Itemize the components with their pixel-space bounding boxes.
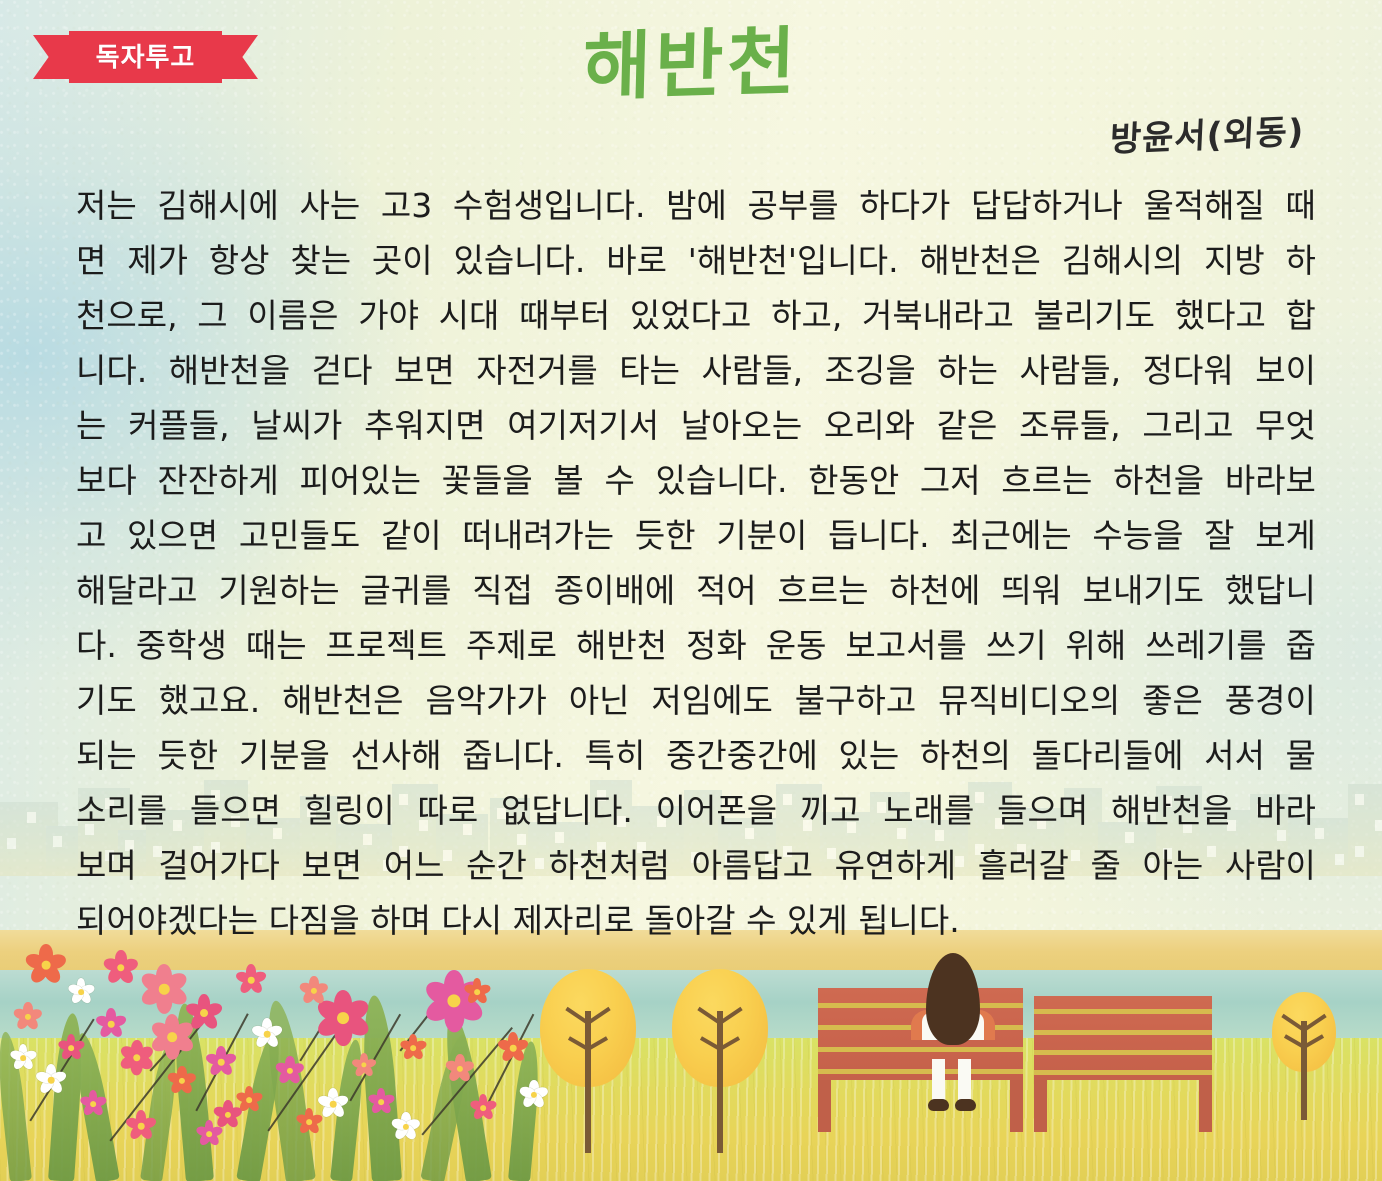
author-byline: 방윤서(외동) xyxy=(1108,104,1305,161)
bench-leg xyxy=(1199,1080,1212,1132)
flower-center xyxy=(78,989,84,995)
flower xyxy=(140,965,188,1013)
article-line: 소리를들으면힐링이따로없답니다.이어폰을끼고노래를들으며해반천을바라 xyxy=(76,783,1316,838)
flower xyxy=(368,1089,394,1115)
flower-center xyxy=(159,984,170,995)
bench-leg xyxy=(1034,1080,1047,1132)
flower xyxy=(126,1111,156,1141)
flower-center xyxy=(246,1097,252,1103)
flower-center xyxy=(206,1131,212,1137)
tree-right xyxy=(1272,992,1336,1120)
flower-center xyxy=(108,1021,115,1028)
flower xyxy=(392,1113,420,1141)
flower-center xyxy=(248,977,255,984)
flower xyxy=(446,1055,474,1083)
flower xyxy=(400,1035,426,1061)
bench-slat xyxy=(1034,1009,1212,1014)
bench-slat xyxy=(1034,1050,1212,1055)
flower xyxy=(68,979,94,1005)
flower-center xyxy=(330,1101,337,1108)
flower xyxy=(498,1033,528,1063)
flower-center xyxy=(474,989,480,995)
flower-center xyxy=(337,1012,349,1024)
flower xyxy=(168,1067,196,1095)
building-window xyxy=(1355,846,1364,857)
article-line: 천으로,그이름은가야시대때부터있었다고하고,거북내라고불리기도했다고합 xyxy=(76,288,1316,343)
flower-center xyxy=(48,1077,55,1084)
flower xyxy=(14,1003,42,1031)
flower xyxy=(80,1091,106,1117)
bench-slat xyxy=(1034,1070,1212,1075)
person-shoe-left xyxy=(928,1099,949,1111)
flower xyxy=(58,1035,84,1061)
tree-trunk xyxy=(717,1011,723,1153)
flower xyxy=(236,1087,262,1113)
building-window xyxy=(1355,794,1364,805)
flower xyxy=(470,1095,496,1121)
building-window xyxy=(53,836,62,847)
flower xyxy=(236,965,266,995)
magazine-page: 독자투고 해반천 방윤서(외동) 저는김해시에사는고3수험생입니다.밤에공부를하… xyxy=(0,0,1382,1181)
bench-slat xyxy=(1034,1030,1212,1035)
flower xyxy=(352,1053,376,1077)
article-line: 고있으면고민들도같이떠내려가는듯한기분이듭니다.최근에는수능을잘보게 xyxy=(76,508,1316,563)
flower xyxy=(36,1065,66,1095)
tree-trunk xyxy=(585,1011,591,1153)
article-line: 다.중학생때는프로젝트주제로해반천정화운동보고서를쓰기위해쓰레기를줍 xyxy=(76,618,1316,673)
section-ribbon-banner: 독자투고 xyxy=(33,31,258,83)
flower xyxy=(206,1047,236,1077)
person-shoe-right xyxy=(955,1099,976,1111)
flower-center xyxy=(264,1031,271,1038)
seated-person xyxy=(908,948,998,1113)
building-silhouette xyxy=(1348,784,1382,876)
person-leg-left xyxy=(932,1059,945,1101)
flower-center xyxy=(138,1123,145,1130)
article-line: 보다잔잔하게피어있는꽃들을볼수있습니다.한동안그저흐르는하천을바라보 xyxy=(76,453,1316,508)
person-hair xyxy=(926,953,980,1045)
flower-center xyxy=(218,1059,225,1066)
flower xyxy=(186,995,222,1031)
article-line: 는커플들,날씨가추워지면여기저기서날아오는오리와같은조류들,그리고무엇 xyxy=(76,398,1316,453)
article-line: 면제가항상찾는곳이있습니다.바로'해반천'입니다.해반천은김해시의지방하 xyxy=(76,233,1316,288)
building-window xyxy=(7,838,16,849)
flower xyxy=(252,1019,282,1049)
flower xyxy=(318,1089,348,1119)
person-leg-right xyxy=(958,1059,971,1101)
flower xyxy=(96,1009,126,1039)
bench-right xyxy=(1034,996,1212,1132)
bottom-illustration xyxy=(0,930,1382,1181)
page-title: 해반천 xyxy=(582,25,800,105)
flower-center xyxy=(480,1105,486,1111)
flower-center xyxy=(378,1099,384,1105)
flower-center xyxy=(42,961,51,970)
article-line: 기도했고요.해반천은음악가가아닌저임에도불구하고뮤직비디오의좋은풍경이 xyxy=(76,673,1316,728)
flower-center xyxy=(200,1009,208,1017)
flower-center xyxy=(90,1101,96,1107)
article-line: 보며걸어가다보면어느순간하천처럼아름답고유연하게흘러갈줄아는사람이 xyxy=(76,838,1316,893)
building-window xyxy=(1335,854,1344,865)
tree-trunk xyxy=(1301,1021,1307,1120)
flower xyxy=(276,1057,304,1085)
flower xyxy=(464,979,490,1005)
flower-center xyxy=(306,1119,312,1125)
flower xyxy=(300,977,328,1005)
flower xyxy=(120,1041,154,1075)
building-window xyxy=(27,812,36,823)
flower-center xyxy=(167,1032,177,1042)
flower xyxy=(26,945,66,985)
bench-backrest xyxy=(1034,996,1212,1080)
building-window xyxy=(1375,820,1382,831)
flower xyxy=(196,1121,222,1147)
flower-meadow xyxy=(0,931,560,1181)
article-line: 해달라고기원하는글귀를직접종이배에적어흐르는하천에띄워보내기도했답니 xyxy=(76,563,1316,618)
flower xyxy=(520,1081,548,1109)
flower xyxy=(104,951,138,985)
article-line: 저는김해시에사는고3수험생입니다.밤에공부를하다가답답하거나울적해질때 xyxy=(76,178,1316,233)
flower-center xyxy=(20,1055,26,1061)
building-window xyxy=(1315,828,1324,839)
article-line: 되는듯한기분을선사해줍니다.특히중간중간에있는하천의돌다리들에서서물 xyxy=(76,728,1316,783)
tree-middle xyxy=(672,969,768,1153)
bench-leg xyxy=(1010,1080,1023,1132)
flower-center xyxy=(510,1045,517,1052)
flower xyxy=(10,1045,36,1071)
ribbon-label: 독자투고 xyxy=(96,44,196,70)
ribbon-body: 독자투고 xyxy=(69,31,222,83)
article-line: 되어야겠다는 다짐을 하며 다시 제자리로 돌아갈 수 있게 됩니다. xyxy=(76,893,1316,948)
flower-center xyxy=(68,1045,74,1051)
bench-leg xyxy=(818,1080,831,1132)
article-body: 저는김해시에사는고3수험생입니다.밤에공부를하다가답답하거나울적해질때면제가항상… xyxy=(76,178,1316,948)
article-line: 니다.해반천을걷다보면자전거를타는사람들,조깅을하는사람들,정다워보이 xyxy=(76,343,1316,398)
flower-center xyxy=(410,1045,416,1051)
